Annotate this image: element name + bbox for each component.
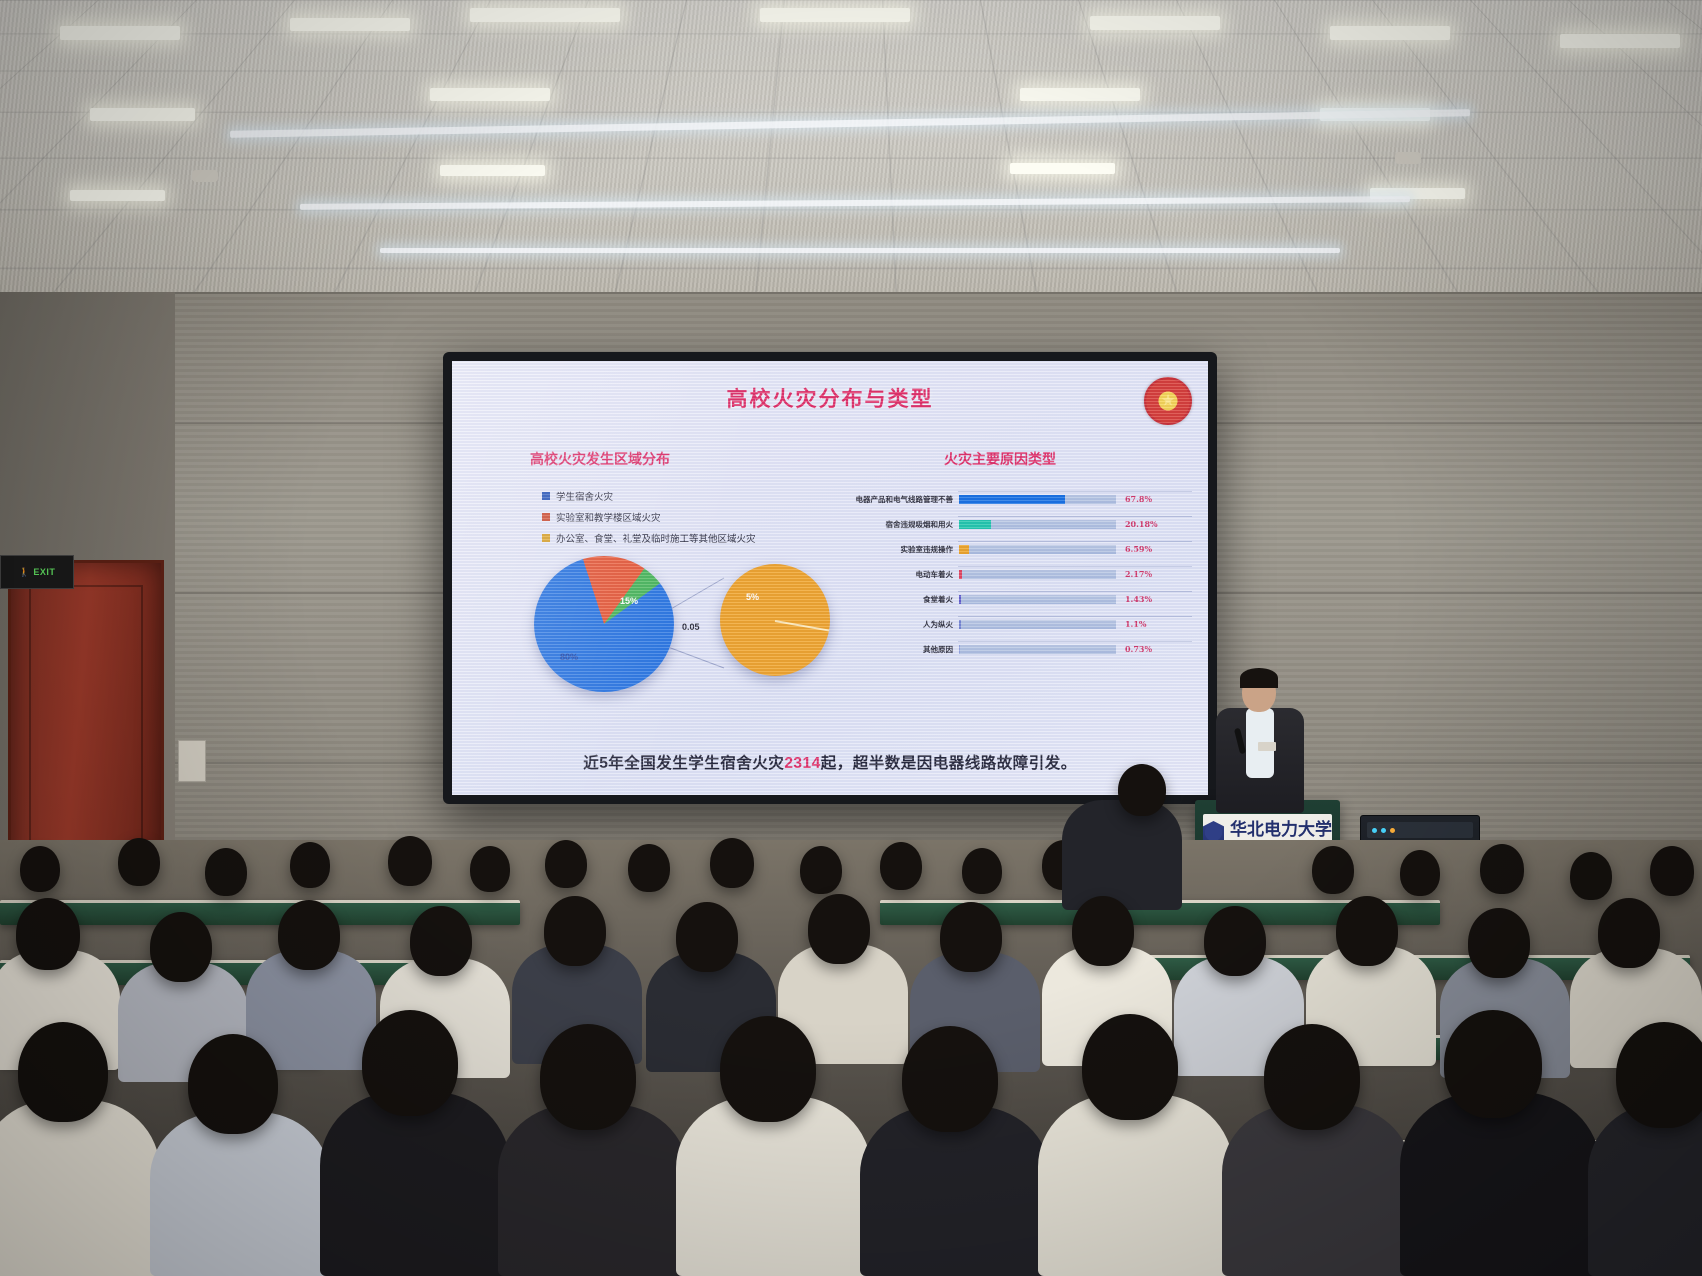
audience-head — [1444, 1010, 1542, 1118]
legend-item: 实验室和教学楼区域火灾 — [542, 510, 756, 524]
caption-text-before: 近5年全国发生学生宿舍火灾 — [583, 755, 784, 772]
audience-head — [118, 838, 160, 886]
audience-head — [18, 1022, 108, 1122]
legend-label: 学生宿舍火灾 — [556, 489, 613, 503]
audience-head — [150, 912, 212, 982]
bar-track — [959, 495, 1116, 504]
bar-track — [959, 520, 1116, 529]
smoke-detector — [1395, 152, 1421, 164]
status-led — [1372, 828, 1377, 833]
audience-head — [1616, 1022, 1702, 1128]
audience-head — [1598, 898, 1660, 968]
ceiling-light — [60, 26, 180, 40]
right-chart-title: 火灾主要原因类型 — [944, 449, 1056, 469]
exit-sign-label: EXIT — [33, 567, 55, 577]
audience-body — [1038, 1094, 1233, 1276]
audience-head — [710, 838, 754, 888]
ceiling-light — [1020, 88, 1140, 101]
pie-legend: 学生宿舍火灾 实验室和教学楼区域火灾 办公室、食堂、礼堂及临时施工等其他区域火灾 — [542, 489, 756, 552]
ceiling-light — [290, 18, 410, 31]
audience-head — [962, 848, 1002, 894]
ceiling-light — [1560, 34, 1680, 48]
audience-body — [150, 1112, 330, 1276]
audience-head — [1650, 846, 1694, 896]
light-switch[interactable] — [178, 740, 206, 782]
status-led — [1390, 828, 1395, 833]
ceiling-light — [90, 108, 195, 121]
page-title: 高校火灾分布与类型 — [452, 383, 1208, 413]
slide-caption: 近5年全国发生学生宿舍火灾2314起，超半数是因电器线路故障引发。 — [452, 751, 1208, 773]
bar-fill — [959, 645, 960, 654]
audience-head — [290, 842, 330, 888]
bar-fill — [959, 620, 961, 629]
door-panel — [29, 585, 143, 871]
bar-track — [959, 545, 1116, 554]
audience-head — [410, 906, 472, 976]
audience-head — [628, 844, 670, 892]
audience-head — [902, 1026, 998, 1132]
ceiling-light — [1090, 16, 1220, 30]
bar-track — [959, 620, 1116, 629]
bar-track — [959, 645, 1116, 654]
bar-row: 电器产品和电气线路管理不善 67.8% — [840, 487, 1192, 511]
audience-body — [1400, 1092, 1600, 1276]
audience-head — [205, 848, 247, 896]
ceiling-light — [470, 8, 620, 22]
ceiling — [0, 0, 1702, 300]
bar-category-label: 其他原因 — [840, 644, 959, 655]
audience-head — [16, 898, 80, 970]
lecture-hall-scene: 🚶 EXIT 高校火灾分布与类型 ★ 高校火灾发生区域分布 火灾主要原因类型 学… — [0, 0, 1702, 1276]
audience-body — [320, 1092, 510, 1276]
bar-fill — [959, 545, 969, 554]
legend-label: 办公室、食堂、礼堂及临时施工等其他区域火灾 — [556, 531, 756, 545]
ceiling-light — [440, 165, 545, 176]
audience-head — [800, 846, 842, 894]
bar-category-label: 人为纵火 — [840, 619, 959, 630]
bar-category-label: 电器产品和电气线路管理不善 — [840, 494, 959, 505]
audience-head — [1400, 850, 1440, 896]
ceiling-light-strip — [380, 248, 1340, 253]
audience-head — [808, 894, 870, 964]
legend-label: 实验室和教学楼区域火灾 — [556, 510, 661, 524]
bar-track — [959, 570, 1116, 579]
audience-body — [1588, 1102, 1702, 1276]
bar-fill — [959, 595, 961, 604]
ceiling-light — [1330, 26, 1450, 40]
slide-surface: 高校火灾分布与类型 ★ 高校火灾发生区域分布 火灾主要原因类型 学生宿舍火灾 实… — [452, 361, 1208, 795]
smoke-detector — [192, 170, 218, 182]
bar-fill — [959, 495, 1065, 504]
audience-head — [1204, 906, 1266, 976]
audience-head — [676, 902, 738, 972]
audience-head — [1082, 1014, 1178, 1120]
audience-head — [1468, 908, 1530, 978]
running-man-icon: 🚶 — [19, 567, 31, 578]
audience-head — [540, 1024, 636, 1130]
star-glyph: ★ — [1161, 391, 1175, 411]
bar-row: 食堂着火 1.43% — [840, 587, 1192, 611]
bar-value-label: 1.43% — [1116, 594, 1192, 604]
legend-swatch-dormitory — [542, 492, 550, 500]
audience-head — [1118, 764, 1166, 816]
audience-head — [1336, 896, 1398, 966]
audience-head — [940, 902, 1002, 972]
bar-value-label: 67.8% — [1116, 494, 1192, 504]
audience-head — [1480, 844, 1524, 894]
pie-exploded-label: 5% — [746, 592, 759, 602]
audience-head — [880, 842, 922, 890]
audience-head — [278, 900, 340, 970]
bar-row: 实验室违规操作 6.59% — [840, 537, 1192, 561]
audience-head — [545, 840, 587, 888]
legend-swatch-other — [542, 534, 550, 542]
audience-head — [720, 1016, 816, 1122]
bar-value-label: 6.59% — [1116, 544, 1192, 554]
audience-body — [0, 1100, 160, 1276]
legend-swatch-lab — [542, 513, 550, 521]
exit-sign: 🚶 EXIT — [0, 555, 74, 589]
bar-row: 电动车着火 2.17% — [840, 562, 1192, 586]
fire-department-emblem-icon: ★ — [1144, 377, 1192, 425]
bar-category-label: 食堂着火 — [840, 594, 959, 605]
bar-track — [959, 595, 1116, 604]
bar-fill — [959, 570, 962, 579]
audience-head — [470, 846, 510, 892]
audience-head — [1072, 896, 1134, 966]
legend-item: 学生宿舍火灾 — [542, 489, 756, 503]
bar-value-label: 20.18% — [1116, 519, 1192, 529]
legend-item: 办公室、食堂、礼堂及临时施工等其他区域火灾 — [542, 531, 756, 545]
left-chart-title: 高校火灾发生区域分布 — [530, 449, 670, 469]
bar-row: 宿舍违规吸烟和用火 20.18% — [840, 512, 1192, 536]
bar-value-label: 0.73% — [1116, 644, 1192, 654]
bar-value-label: 2.17% — [1116, 569, 1192, 579]
presenter-badge — [1258, 742, 1276, 751]
audience-head — [388, 836, 432, 886]
pie-main-circle — [534, 556, 674, 692]
caption-highlight-number: 2314 — [784, 755, 820, 772]
presenter-hair — [1240, 668, 1278, 688]
audience-head — [1312, 846, 1354, 894]
university-name: 华北电力大学 — [1230, 820, 1332, 840]
bar-category-label: 电动车着火 — [840, 569, 959, 580]
caption-text-after: 起，超半数是因电器线路故障引发。 — [821, 755, 1077, 772]
ceiling-light — [1010, 163, 1115, 174]
audience-head — [362, 1010, 458, 1116]
ceiling-tile-grid — [0, 0, 1702, 301]
pie-slice-label-lab: 15% — [620, 596, 638, 606]
pie-exploded-divider — [775, 620, 830, 632]
audience-head — [1264, 1024, 1360, 1130]
audience-head — [544, 896, 606, 966]
audience-head — [1570, 852, 1612, 900]
ceiling-light — [70, 190, 165, 201]
bar-category-label: 实验室违规操作 — [840, 544, 959, 555]
bar-row: 其他原因 0.73% — [840, 637, 1192, 661]
audience-body — [1062, 800, 1182, 910]
bar-chart: 电器产品和电气线路管理不善 67.8% 宿舍违规吸烟和用火 20.18% 实验室… — [840, 487, 1192, 669]
pie-slice-label-other: 0.05 — [682, 622, 700, 632]
bar-row: 人为纵火 1.1% — [840, 612, 1192, 636]
ceiling-light — [430, 88, 550, 101]
pie-chart: 15% 80% 0.05 5% — [524, 556, 824, 696]
pie-exploded-circle — [720, 564, 830, 676]
bar-value-label: 1.1% — [1116, 619, 1192, 629]
ceiling-light — [760, 8, 910, 22]
audience-head — [188, 1034, 278, 1134]
status-led — [1381, 828, 1386, 833]
bar-fill — [959, 520, 991, 529]
bar-category-label: 宿舍违规吸烟和用火 — [840, 519, 959, 530]
audience-head — [20, 846, 60, 892]
projection-screen[interactable]: 高校火灾分布与类型 ★ 高校火灾发生区域分布 火灾主要原因类型 学生宿舍火灾 实… — [443, 352, 1217, 804]
pie-slice-label-dormitory: 80% — [560, 652, 578, 662]
audience-body — [676, 1096, 871, 1276]
